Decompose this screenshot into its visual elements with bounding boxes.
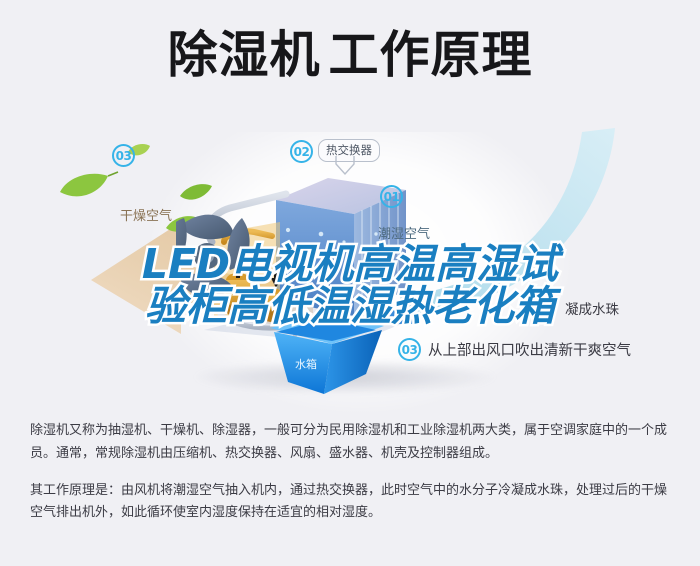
callout-badge-01: 01 xyxy=(380,185,403,208)
water-tank-icon: 水箱 xyxy=(262,310,392,402)
callout-badge-02: 02 xyxy=(290,140,313,163)
water-tank-label: 水箱 xyxy=(295,357,317,371)
callout-label-humid-air: 潮湿空气 xyxy=(378,223,430,242)
callout-badge-03: 03 xyxy=(112,144,135,167)
step3-badge: 03 xyxy=(398,338,421,361)
paragraph-2: 其工作原理是：由风机将潮湿空气抽入机内，通过热交换器，此时空气中的水分子冷凝成水… xyxy=(30,480,675,526)
article-body: 除湿机又称为抽湿机、干燥机、除湿器，一般可分为民用除湿机和工业除湿机两大类，属于… xyxy=(30,420,675,525)
callout-label-dry-air: 干燥空气 xyxy=(120,205,172,224)
step3-text: 从上部出风口吹出清新干爽空气 xyxy=(428,339,631,360)
title-part-1: 除湿机 xyxy=(168,26,321,84)
step3-row: 03 从上部出风口吹出清新干爽空气 xyxy=(398,338,631,361)
note-condense-water: 凝成水珠 xyxy=(565,298,619,318)
paragraph-1: 除湿机又称为抽湿机、干燥机、除湿器，一般可分为民用除湿机和工业除湿机两大类，属于… xyxy=(30,420,675,466)
callout-tail-icon xyxy=(334,156,358,178)
dehumidifier-diagram: 水箱 03 干燥空气 02 热交换器 01 潮湿空气 凝成水珠 03 从上部出风… xyxy=(0,112,700,412)
page-title: 除湿机工作原理 xyxy=(0,20,700,90)
infographic-page: 除湿机工作原理 xyxy=(0,0,700,566)
title-part-2: 工作原理 xyxy=(329,26,533,84)
